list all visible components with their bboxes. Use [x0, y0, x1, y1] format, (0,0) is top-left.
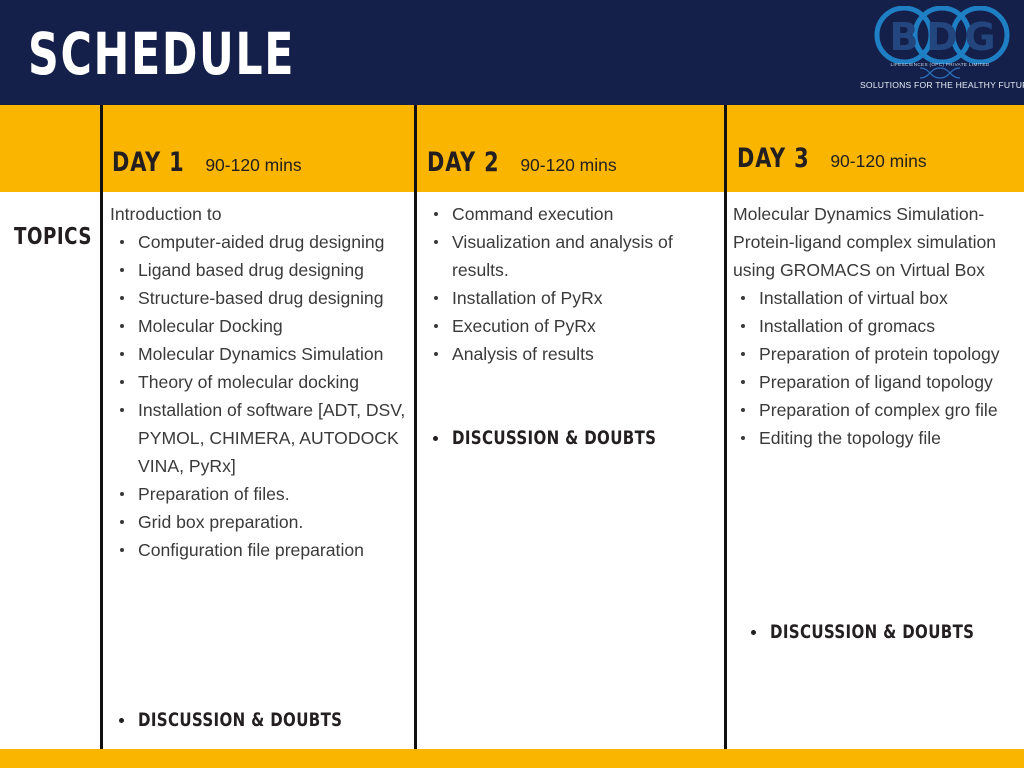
list-item: Ligand based drug designing — [110, 256, 412, 284]
dna-helix-icon — [916, 66, 964, 80]
list-item: Preparation of ligand topology — [733, 368, 1023, 396]
day-1-topic-list: Computer-aided drug designingLigand base… — [110, 228, 412, 564]
day-header-2: DAY 2 90-120 mins — [427, 147, 617, 178]
list-item: Visualization and analysis of results. — [424, 228, 720, 284]
column-divider-3 — [724, 105, 727, 750]
day-3-topic-list: Installation of virtual boxInstallation … — [733, 284, 1023, 452]
day-2-label: DAY 2 — [427, 147, 500, 178]
svg-text:B: B — [890, 15, 919, 59]
day-2-discussion-label: DISCUSSION & DOUBTS — [452, 426, 656, 450]
list-item: Analysis of results — [424, 340, 720, 368]
day-1-label: DAY 1 — [112, 147, 185, 178]
column-divider-2 — [414, 105, 417, 750]
list-item: Installation of virtual box — [733, 284, 1023, 312]
list-item: Editing the topology file — [733, 424, 1023, 452]
day-header-1: DAY 1 90-120 mins — [112, 147, 302, 178]
list-item: Configuration file preparation — [110, 536, 412, 564]
day-3-duration: 90-120 mins — [830, 151, 926, 172]
list-item: Computer-aided drug designing — [110, 228, 412, 256]
list-item: Molecular Dynamics Simulation — [110, 340, 412, 368]
list-item: Installation of software [ADT, DSV, PYMO… — [110, 396, 412, 480]
list-item: Theory of molecular docking — [110, 368, 412, 396]
column-divider-1 — [100, 105, 103, 750]
day-3-content: Molecular Dynamics Simulation-Protein-li… — [733, 200, 1023, 452]
day-1-intro: Introduction to — [110, 200, 412, 228]
list-item: Installation of PyRx — [424, 284, 720, 312]
day-2-duration: 90-120 mins — [520, 155, 616, 176]
row-label-topics: TOPICS — [14, 224, 92, 250]
svg-text:G: G — [964, 15, 995, 59]
list-item: Execution of PyRx — [424, 312, 720, 340]
list-item: Structure-based drug designing — [110, 284, 412, 312]
bdg-logo-mark: B D G — [872, 6, 1012, 64]
day-1-content: Introduction to Computer-aided drug desi… — [110, 200, 412, 564]
list-item: Command execution — [424, 200, 720, 228]
day-1-discussion-item: DISCUSSION & DOUBTS — [110, 708, 370, 732]
logo-tagline: SOLUTIONS FOR THE HEALTHY FUTURE — [860, 80, 1020, 90]
company-logo: B D G LIFESCIENCES (OPC) PRIVATE LIMITED… — [860, 4, 1020, 96]
list-item: Preparation of protein topology — [733, 340, 1023, 368]
day-header-3: DAY 3 90-120 mins — [737, 143, 927, 174]
day-3-label: DAY 3 — [737, 143, 810, 174]
list-item: Molecular Docking — [110, 312, 412, 340]
svg-text:D: D — [926, 15, 958, 59]
day-3-discussion-label: DISCUSSION & DOUBTS — [770, 620, 974, 644]
day-3-discussion-item: DISCUSSION & DOUBTS — [742, 620, 1002, 644]
schedule-slide: SCHEDULE B D G LIFESCIENCES (OPC) PRIVAT… — [0, 0, 1024, 768]
list-item: Installation of gromacs — [733, 312, 1023, 340]
list-item: Preparation of files. — [110, 480, 412, 508]
list-item: Grid box preparation. — [110, 508, 412, 536]
day-2-topic-list: Command executionVisualization and analy… — [424, 200, 720, 368]
day-2-discussion-item: DISCUSSION & DOUBTS — [424, 426, 684, 450]
day-1-discussion-label: DISCUSSION & DOUBTS — [138, 708, 342, 732]
bottom-accent-bar — [0, 749, 1024, 768]
list-item: Preparation of complex gro file — [733, 396, 1023, 424]
page-title: SCHEDULE — [28, 24, 295, 84]
day-1-duration: 90-120 mins — [205, 155, 301, 176]
day-3-intro: Molecular Dynamics Simulation-Protein-li… — [733, 200, 1023, 284]
day-2-content: Command executionVisualization and analy… — [424, 200, 720, 368]
